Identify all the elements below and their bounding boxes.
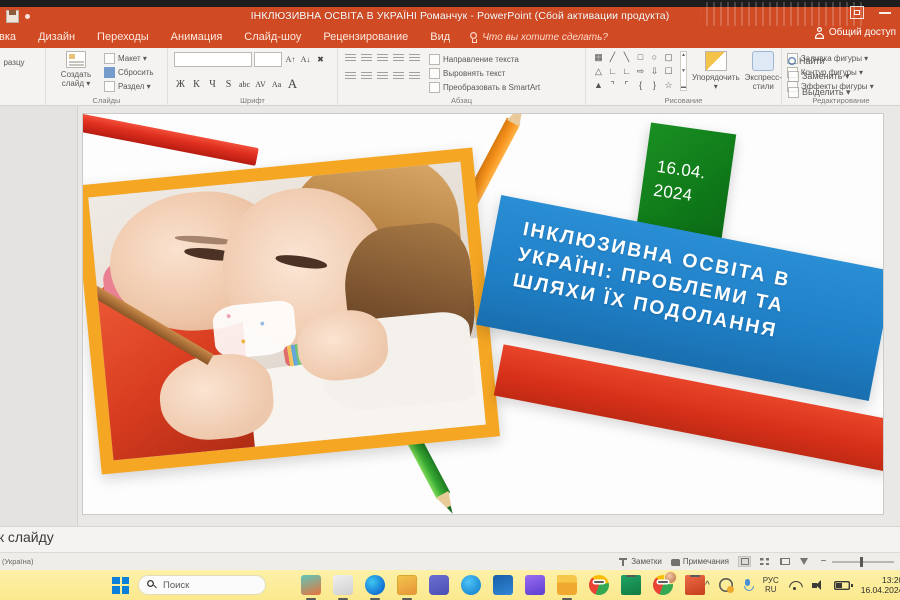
decrease-font-size-icon[interactable]: A↓ xyxy=(299,55,312,64)
format-painter-button[interactable]: разцу xyxy=(0,58,38,67)
avatar xyxy=(665,572,676,583)
align-center-icon[interactable] xyxy=(360,70,373,82)
smartart-label: Преобразовать в SmartArt xyxy=(443,83,540,92)
justify-icon[interactable] xyxy=(392,70,405,82)
taskbar-app-excel-icon[interactable] xyxy=(621,575,641,595)
tab-dizain[interactable]: Дизайн xyxy=(27,26,86,48)
replace-label: Заменить ▾ xyxy=(802,71,849,82)
notes-placeholder: ки к слайду xyxy=(0,529,54,545)
arrange-icon xyxy=(705,51,727,71)
ribbon-group-editing: Найти Заменить ▾ Выделить ▾ Редактирован… xyxy=(782,48,900,106)
notes-icon xyxy=(618,557,628,567)
font-controls-row-2: Ж К Ч S abc AV Aa A xyxy=(174,76,299,92)
format-painter-label: разцу xyxy=(3,58,24,67)
shape-corner2-icon[interactable]: ∟ xyxy=(620,65,633,78)
search-icon xyxy=(788,57,796,65)
ribbon-group-clipboard: разцу xyxy=(0,48,46,106)
new-slide-label: Создать слайд ▾ xyxy=(61,70,91,88)
shapes-gallery[interactable]: ▦ ╱ ╲ □ ○ ▢ △ ∟ ∟ ⇨ ⇩ ☐ ▲ ⌝ ⌜ { } xyxy=(592,51,675,92)
title-bar: ІНКЛЮЗИВНА ОСВІТА В УКРАЇНІ Романчук - P… xyxy=(0,0,900,26)
tab-slide-show[interactable]: Слайд-шоу xyxy=(233,26,312,48)
paragraph-list-row xyxy=(344,52,421,64)
text-direction-button[interactable]: Направление текста xyxy=(429,54,540,65)
shape-star-icon[interactable]: ☆ xyxy=(662,79,675,92)
section-label: Раздел ▾ xyxy=(118,82,151,91)
decrease-indent-icon[interactable] xyxy=(376,52,389,64)
battery-icon[interactable] xyxy=(834,581,850,590)
status-language[interactable]: (Україна) xyxy=(0,557,33,566)
taskbar-app-edge-icon[interactable] xyxy=(365,575,385,595)
paragraph-align-buttons xyxy=(344,52,421,82)
shape-textbox-icon[interactable]: ▦ xyxy=(592,51,605,64)
ribbon-group-font: A↑ A↓ ✖ Ж К Ч S abc AV Aa A Шрифт xyxy=(168,48,338,106)
shape-callout-icon[interactable]: ☐ xyxy=(662,65,675,78)
tab-perehody[interactable]: Переходы xyxy=(86,26,160,48)
shape-triangle-icon[interactable]: △ xyxy=(592,65,605,78)
new-slide-icon xyxy=(66,51,86,68)
shadow-button[interactable]: S xyxy=(222,79,235,90)
align-text-button[interactable]: Выровнять текст xyxy=(429,68,540,79)
paragraph-text-buttons: Направление текста Выровнять текст Преоб… xyxy=(429,52,540,93)
ribbon-group-editing-label: Редактирование xyxy=(782,96,900,105)
system-tray: ^ РУС RU 13:20 16.04.2024 xyxy=(705,575,900,595)
search-icon xyxy=(147,580,157,590)
bold-button[interactable]: Ж xyxy=(174,79,187,90)
font-controls-row-1: A↑ A↓ ✖ xyxy=(174,52,327,67)
comment-icon xyxy=(671,559,680,566)
font-name-input[interactable] xyxy=(174,52,252,67)
window-title: ІНКЛЮЗИВНА ОСВІТА В УКРАЇНІ Романчук - P… xyxy=(0,7,900,26)
arrange-button[interactable]: Упорядочить ▾ xyxy=(692,51,740,91)
shape-arrow-right-icon[interactable]: ⇨ xyxy=(634,65,647,78)
section-icon xyxy=(104,81,115,92)
layout-button[interactable]: Макет ▾ xyxy=(104,53,154,64)
shapes-scroll-down-icon[interactable]: ▼ xyxy=(681,68,686,74)
find-button[interactable]: Найти xyxy=(788,55,851,66)
tab-vid[interactable]: Вид xyxy=(419,26,461,48)
taskbar-app-yellow-icon[interactable] xyxy=(397,575,417,595)
shape-brace-left-icon[interactable]: { xyxy=(634,79,647,92)
bullet-list-icon[interactable] xyxy=(344,52,357,64)
numbered-list-icon[interactable] xyxy=(360,52,373,64)
slide-thumbnail-pane[interactable] xyxy=(0,106,78,526)
columns-icon[interactable] xyxy=(408,70,421,82)
clock-time: 13:20 xyxy=(861,575,900,585)
reset-icon xyxy=(104,67,115,78)
red-pencil-body xyxy=(83,114,259,166)
convert-to-smartart-button[interactable]: Преобразовать в SmartArt xyxy=(429,82,540,93)
shapes-more-icon[interactable]: ▬ xyxy=(681,84,686,90)
shape-brace-right-icon[interactable]: } xyxy=(648,79,661,92)
ribbon-group-slides-label: Слайды xyxy=(46,96,167,105)
smartart-icon xyxy=(429,82,440,93)
taskbar-app-windows-icon[interactable] xyxy=(333,575,353,595)
clear-formatting-icon[interactable]: ✖ xyxy=(314,55,327,64)
align-right-icon[interactable] xyxy=(376,70,389,82)
layout-icon xyxy=(104,53,115,64)
notes-toggle-label: Заметки xyxy=(631,557,662,566)
ribbon-group-paragraph: Направление текста Выровнять текст Преоб… xyxy=(338,48,586,106)
zoom-slider-thumb[interactable] xyxy=(860,557,863,567)
slides-small-buttons: Макет ▾ Сбросить Раздел ▾ xyxy=(104,51,154,92)
quick-styles-button[interactable]: Экспресс- стили xyxy=(745,51,782,91)
ribbon-group-drawing-label: Рисование xyxy=(586,96,781,105)
status-bar: (Україна) Заметки Примечания − xyxy=(0,552,900,570)
reset-label: Сбросить xyxy=(118,68,154,77)
italic-button[interactable]: К xyxy=(190,79,203,90)
view-normal-button[interactable] xyxy=(738,556,751,567)
shape-rect-icon[interactable]: □ xyxy=(634,51,647,64)
red-pencil-decoration xyxy=(83,114,259,166)
green-pencil-wood xyxy=(436,491,459,514)
ribbon-group-slides: Создать слайд ▾ Макет ▾ Сбросить Раздел … xyxy=(46,48,168,106)
shapes-scroll-up-icon[interactable]: ▲ xyxy=(681,52,686,58)
shapes-scrollbar[interactable]: ▲ ▼ ▬ xyxy=(680,51,687,91)
new-slide-button[interactable]: Создать слайд ▾ xyxy=(52,51,100,88)
search-placeholder: Поиск xyxy=(163,580,189,591)
quick-styles-icon xyxy=(752,51,774,71)
taskbar-search-box[interactable]: Поиск xyxy=(138,575,266,595)
paragraph-align-row xyxy=(344,70,421,82)
quick-styles-label: Экспресс- стили xyxy=(745,73,782,91)
notes-toggle-button[interactable]: Заметки xyxy=(618,557,662,567)
microphone-icon[interactable] xyxy=(742,578,754,592)
shape-freeform-icon[interactable]: ▲ xyxy=(592,79,605,92)
view-slide-sorter-button[interactable] xyxy=(758,556,771,567)
work-area: 16.04. 2024 ІНКЛЮЗИВНА ОСВІТА В УКРАЇНІ:… xyxy=(0,106,900,526)
line-spacing-icon[interactable] xyxy=(408,52,421,64)
zoom-slider[interactable] xyxy=(832,561,894,563)
clock[interactable]: 13:20 16.04.2024 xyxy=(859,575,900,595)
taskbar-app-chrome-profile-icon[interactable] xyxy=(653,575,673,595)
start-button-icon[interactable] xyxy=(112,577,129,594)
shape-rounded-icon[interactable]: ▢ xyxy=(662,51,675,64)
volume-icon[interactable] xyxy=(811,579,825,591)
taskbar-app-purple-icon[interactable] xyxy=(525,575,545,595)
language-indicator[interactable]: РУС RU xyxy=(763,576,779,594)
taskbar-app-telegram-icon[interactable] xyxy=(461,575,481,595)
shape-oval-icon[interactable]: ○ xyxy=(648,51,661,64)
shape-curve-icon[interactable]: ⌝ xyxy=(606,79,619,92)
tell-me-label: Что вы хотите сделать? xyxy=(482,32,608,43)
ribbon-group-paragraph-label: Абзац xyxy=(338,96,585,105)
shape-line-icon[interactable]: ╱ xyxy=(606,51,619,64)
view-buttons xyxy=(738,556,811,567)
slide-photo xyxy=(88,162,486,461)
align-left-icon[interactable] xyxy=(344,70,357,82)
slide-title-text: ІНКЛЮЗИВНА ОСВІТА В УКРАЇНІ: ПРОБЛЕМИ ТА… xyxy=(511,216,883,364)
tab-recenzirovanie[interactable]: Рецензирование xyxy=(312,26,419,48)
slide-canvas[interactable]: 16.04. 2024 ІНКЛЮЗИВНА ОСВІТА В УКРАЇНІ:… xyxy=(83,114,883,514)
tab-vstavka[interactable]: тавка xyxy=(0,26,27,48)
font-color-button[interactable]: A xyxy=(286,76,299,92)
taskbar-center: Поиск xyxy=(0,575,705,595)
increase-font-size-icon[interactable]: A↑ xyxy=(284,55,297,64)
arrange-label: Упорядочить ▾ xyxy=(692,73,740,91)
shape-corner-icon[interactable]: ∟ xyxy=(606,65,619,78)
window-controls[interactable] xyxy=(850,6,892,19)
taskbar-app-powerpoint-icon[interactable] xyxy=(685,575,705,595)
zoom-control: − xyxy=(820,556,894,567)
replace-button[interactable]: Заменить ▾ xyxy=(788,71,851,82)
shape-line2-icon[interactable]: ╲ xyxy=(620,51,633,64)
align-text-label: Выровнять текст xyxy=(443,69,505,78)
ribbon-group-drawing: ▦ ╱ ╲ □ ○ ▢ △ ∟ ∟ ⇨ ⇩ ☐ ▲ ⌝ ⌜ { } xyxy=(586,48,782,106)
lightbulb-icon xyxy=(469,32,478,43)
sync-icon[interactable] xyxy=(719,578,733,592)
increase-indent-icon[interactable] xyxy=(392,52,405,64)
view-reading-button[interactable] xyxy=(778,556,791,567)
layout-label: Макет ▾ xyxy=(118,54,147,63)
ribbon-tab-strip[interactable]: тавка Дизайн Переходы Анимация Слайд-шоу… xyxy=(0,26,900,48)
ribbon-body: разцу Создать слайд ▾ Макет ▾ xyxy=(0,48,900,106)
taskbar-app-store-icon[interactable] xyxy=(493,575,513,595)
shape-arc-icon[interactable]: ⌜ xyxy=(620,79,633,92)
strikethrough-button[interactable]: abc xyxy=(238,80,251,89)
editing-buttons: Найти Заменить ▾ Выделить ▾ xyxy=(788,53,851,98)
underline-button[interactable]: Ч xyxy=(206,79,219,90)
zoom-out-button[interactable]: − xyxy=(820,556,827,567)
find-label: Найти xyxy=(799,56,825,66)
person-icon xyxy=(814,27,825,38)
slide-content: 16.04. 2024 ІНКЛЮЗИВНА ОСВІТА В УКРАЇНІ:… xyxy=(83,114,883,514)
restore-window-icon[interactable] xyxy=(850,6,864,19)
view-slideshow-button[interactable] xyxy=(798,556,811,567)
shape-arrow-down-icon[interactable]: ⇩ xyxy=(648,65,661,78)
taskbar-app-school-icon[interactable] xyxy=(301,575,321,595)
wifi-icon[interactable] xyxy=(788,579,802,591)
share-button[interactable]: Общий доступ xyxy=(814,27,896,38)
clock-date: 16.04.2024 xyxy=(861,585,900,595)
comments-toggle-button[interactable]: Примечания xyxy=(671,557,729,566)
tab-animaciya[interactable]: Анимация xyxy=(160,26,234,48)
change-case-button[interactable]: Aa xyxy=(270,80,283,89)
minimize-window-icon[interactable] xyxy=(878,6,892,19)
font-size-input[interactable] xyxy=(254,52,282,67)
taskbar-app-chrome-icon[interactable] xyxy=(589,575,609,595)
text-direction-icon xyxy=(429,54,440,65)
align-text-icon xyxy=(429,68,440,79)
taskbar-app-icons xyxy=(301,575,705,595)
tell-me-box[interactable]: Что вы хотите сделать? xyxy=(469,32,608,43)
reset-button[interactable]: Сбросить xyxy=(104,67,154,78)
screen: ІНКЛЮЗИВНА ОСВІТА В УКРАЇНІ Романчук - P… xyxy=(0,0,900,600)
text-direction-label: Направление текста xyxy=(443,55,519,64)
notes-pane[interactable]: ки к слайду xyxy=(0,526,900,552)
share-label: Общий доступ xyxy=(829,27,896,38)
taskbar: Поиск ^ xyxy=(0,570,900,600)
slide-photo-frame[interactable] xyxy=(83,147,500,474)
status-bar-right: Заметки Примечания − xyxy=(618,556,900,567)
replace-icon xyxy=(788,71,799,82)
show-hidden-icons-icon[interactable]: ^ xyxy=(705,580,710,591)
section-button[interactable]: Раздел ▾ xyxy=(104,81,154,92)
taskbar-app-file-explorer-icon[interactable] xyxy=(557,575,577,595)
taskbar-app-teams-icon[interactable] xyxy=(429,575,449,595)
character-spacing-button[interactable]: AV xyxy=(254,80,267,89)
ribbon-group-font-label: Шрифт xyxy=(168,96,337,105)
comments-toggle-label: Примечания xyxy=(683,557,729,566)
